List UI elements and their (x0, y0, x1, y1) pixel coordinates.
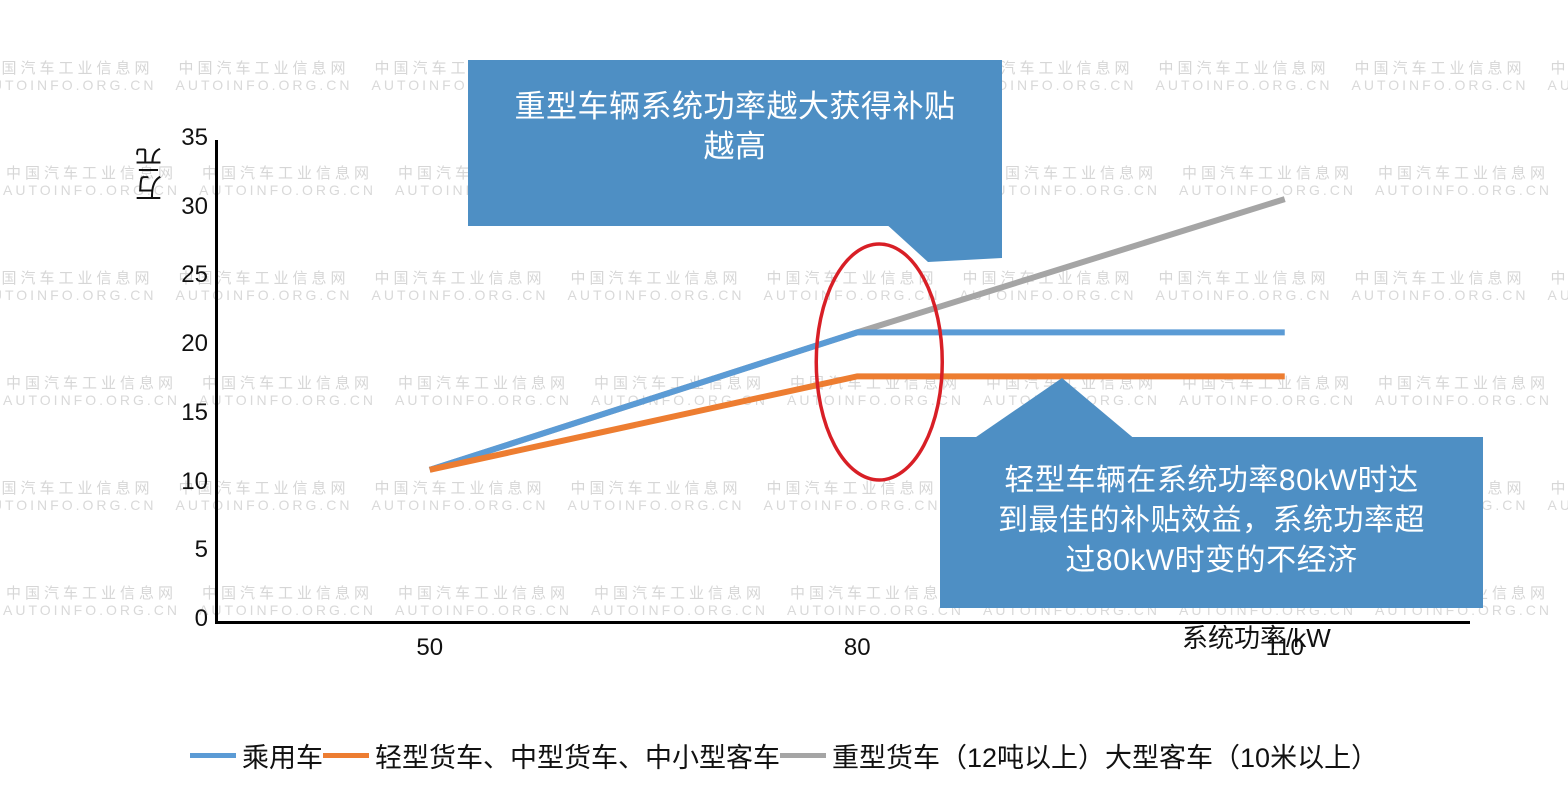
callout-bottom-line1: 轻型车辆在系统功率80kW时达 (940, 461, 1483, 501)
callout-light-vehicle: 轻型车辆在系统功率80kW时达 到最佳的补贴效益，系统功率超 过80kW时变的不… (940, 437, 1483, 608)
callout-heavy-vehicle: 重型车辆系统功率越大获得补贴 越高 (468, 60, 1002, 226)
legend-item[interactable]: 乘用车 (190, 736, 323, 775)
legend-swatch (323, 753, 369, 758)
legend-item[interactable]: 重型货车（12吨以上）大型客车（10米以上） (780, 736, 1378, 775)
legend-swatch (780, 753, 826, 758)
legend-label: 乘用车 (242, 736, 323, 775)
callout-top-line1: 重型车辆系统功率越大获得补贴 (468, 87, 1002, 127)
callout-top-line2: 越高 (468, 127, 1002, 167)
legend-item[interactable]: 轻型货车、中型货车、中小型客车 (323, 736, 780, 775)
red-ellipse-highlight (816, 244, 942, 480)
chart-legend: 乘用车轻型货车、中型货车、中小型客车重型货车（12吨以上）大型客车（10米以上） (190, 736, 1378, 775)
legend-swatch (190, 753, 236, 758)
callout-bottom-line2: 到最佳的补贴效益，系统功率超 (940, 501, 1483, 541)
legend-label: 重型货车（12吨以上）大型客车（10米以上） (832, 736, 1378, 775)
chart-area: 万元 系统功率/kW 35302520151050 5080110 重型车辆系统… (0, 0, 1568, 795)
legend-label: 轻型货车、中型货车、中小型客车 (375, 736, 780, 775)
callout-bottom-line3: 过80kW时变的不经济 (940, 541, 1483, 581)
